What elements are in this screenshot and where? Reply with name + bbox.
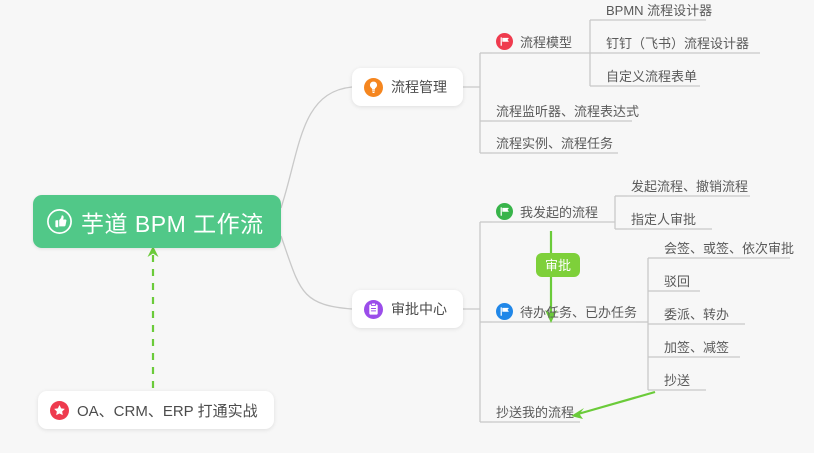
root-node[interactable]: 芋道 BPM 工作流 <box>33 195 281 248</box>
leaf-label: 指定人审批 <box>631 209 696 228</box>
leaf-chaosong[interactable]: 抄送 <box>664 368 690 390</box>
leaf-label: 我发起的流程 <box>520 202 598 221</box>
link-root-to-shenpi <box>281 236 352 309</box>
leaf-label: 流程模型 <box>520 32 572 51</box>
leaf-daibanrenwu[interactable]: 待办任务、已办任务 <box>496 300 637 322</box>
link-root-to-liucheng <box>281 87 352 208</box>
leaf-label: 会签、或签、依次审批 <box>664 238 794 257</box>
approve-badge-label: 审批 <box>545 259 571 272</box>
leaf-label: 流程监听器、流程表达式 <box>496 101 639 120</box>
approve-badge: 审批 <box>536 253 580 277</box>
flag-icon <box>496 203 513 220</box>
flag-icon <box>496 303 513 320</box>
leaf-liuchengmoxing[interactable]: 流程模型 <box>496 30 572 52</box>
leaf-weipai-zhuanban[interactable]: 委派、转办 <box>664 302 729 324</box>
branch-label: 流程管理 <box>391 77 447 97</box>
bottom-node-oa-crm-erp[interactable]: OA、CRM、ERP 打通实战 <box>38 391 274 429</box>
branch-node-liuchengguanli[interactable]: 流程管理 <box>352 68 463 106</box>
leaf-label: 发起流程、撤销流程 <box>631 176 748 195</box>
leaf-chaosongwodeliucheng[interactable]: 抄送我的流程 <box>496 400 574 422</box>
star-icon <box>50 401 69 420</box>
leaf-jiaqian-jianqian[interactable]: 加签、减签 <box>664 335 729 357</box>
mindmap-canvas: 芋道 BPM 工作流 流程管理 审批中心 <box>0 0 814 453</box>
leaf-label: 抄送 <box>664 370 690 389</box>
leaf-label: 加签、减签 <box>664 337 729 356</box>
clipboard-icon <box>364 300 383 319</box>
lightbulb-icon <box>364 78 383 97</box>
leaf-label: 委派、转办 <box>664 304 729 323</box>
dashed-arrow-to-root <box>148 246 159 388</box>
thumbs-up-icon <box>47 209 72 234</box>
leaf-label: 待办任务、已办任务 <box>520 302 637 321</box>
leaf-label: 驳回 <box>664 271 690 290</box>
leaf-bpmn-designer[interactable]: BPMN 流程设计器 <box>606 0 712 20</box>
branch-node-shenpizhongxin[interactable]: 审批中心 <box>352 290 463 328</box>
leaf-bohui[interactable]: 驳回 <box>664 269 690 291</box>
leaf-label: 抄送我的流程 <box>496 402 574 421</box>
green-arrow-chaosong <box>571 392 655 419</box>
root-label: 芋道 BPM 工作流 <box>81 205 264 239</box>
leaf-dingding-designer[interactable]: 钉钉（飞书）流程设计器 <box>606 31 749 53</box>
leaf-liuchengshili[interactable]: 流程实例、流程任务 <box>496 131 613 153</box>
leaf-liuchengjiantingqi[interactable]: 流程监听器、流程表达式 <box>496 99 639 121</box>
leaf-faqi-chexiao[interactable]: 发起流程、撤销流程 <box>631 174 748 196</box>
leaf-zhidingren-shenpi[interactable]: 指定人审批 <box>631 207 696 229</box>
leaf-huiqian-huoqian[interactable]: 会签、或签、依次审批 <box>664 236 794 258</box>
flag-icon <box>496 33 513 50</box>
leaf-label: 自定义流程表单 <box>606 66 697 85</box>
leaf-label: 流程实例、流程任务 <box>496 133 613 152</box>
leaf-label: 钉钉（飞书）流程设计器 <box>606 33 749 52</box>
leaf-label: BPMN 流程设计器 <box>606 0 712 19</box>
bottom-node-label: OA、CRM、ERP 打通实战 <box>77 400 258 421</box>
leaf-custom-form[interactable]: 自定义流程表单 <box>606 64 697 86</box>
leaf-wofaqideliucheng[interactable]: 我发起的流程 <box>496 200 598 222</box>
branch-label: 审批中心 <box>391 299 447 319</box>
